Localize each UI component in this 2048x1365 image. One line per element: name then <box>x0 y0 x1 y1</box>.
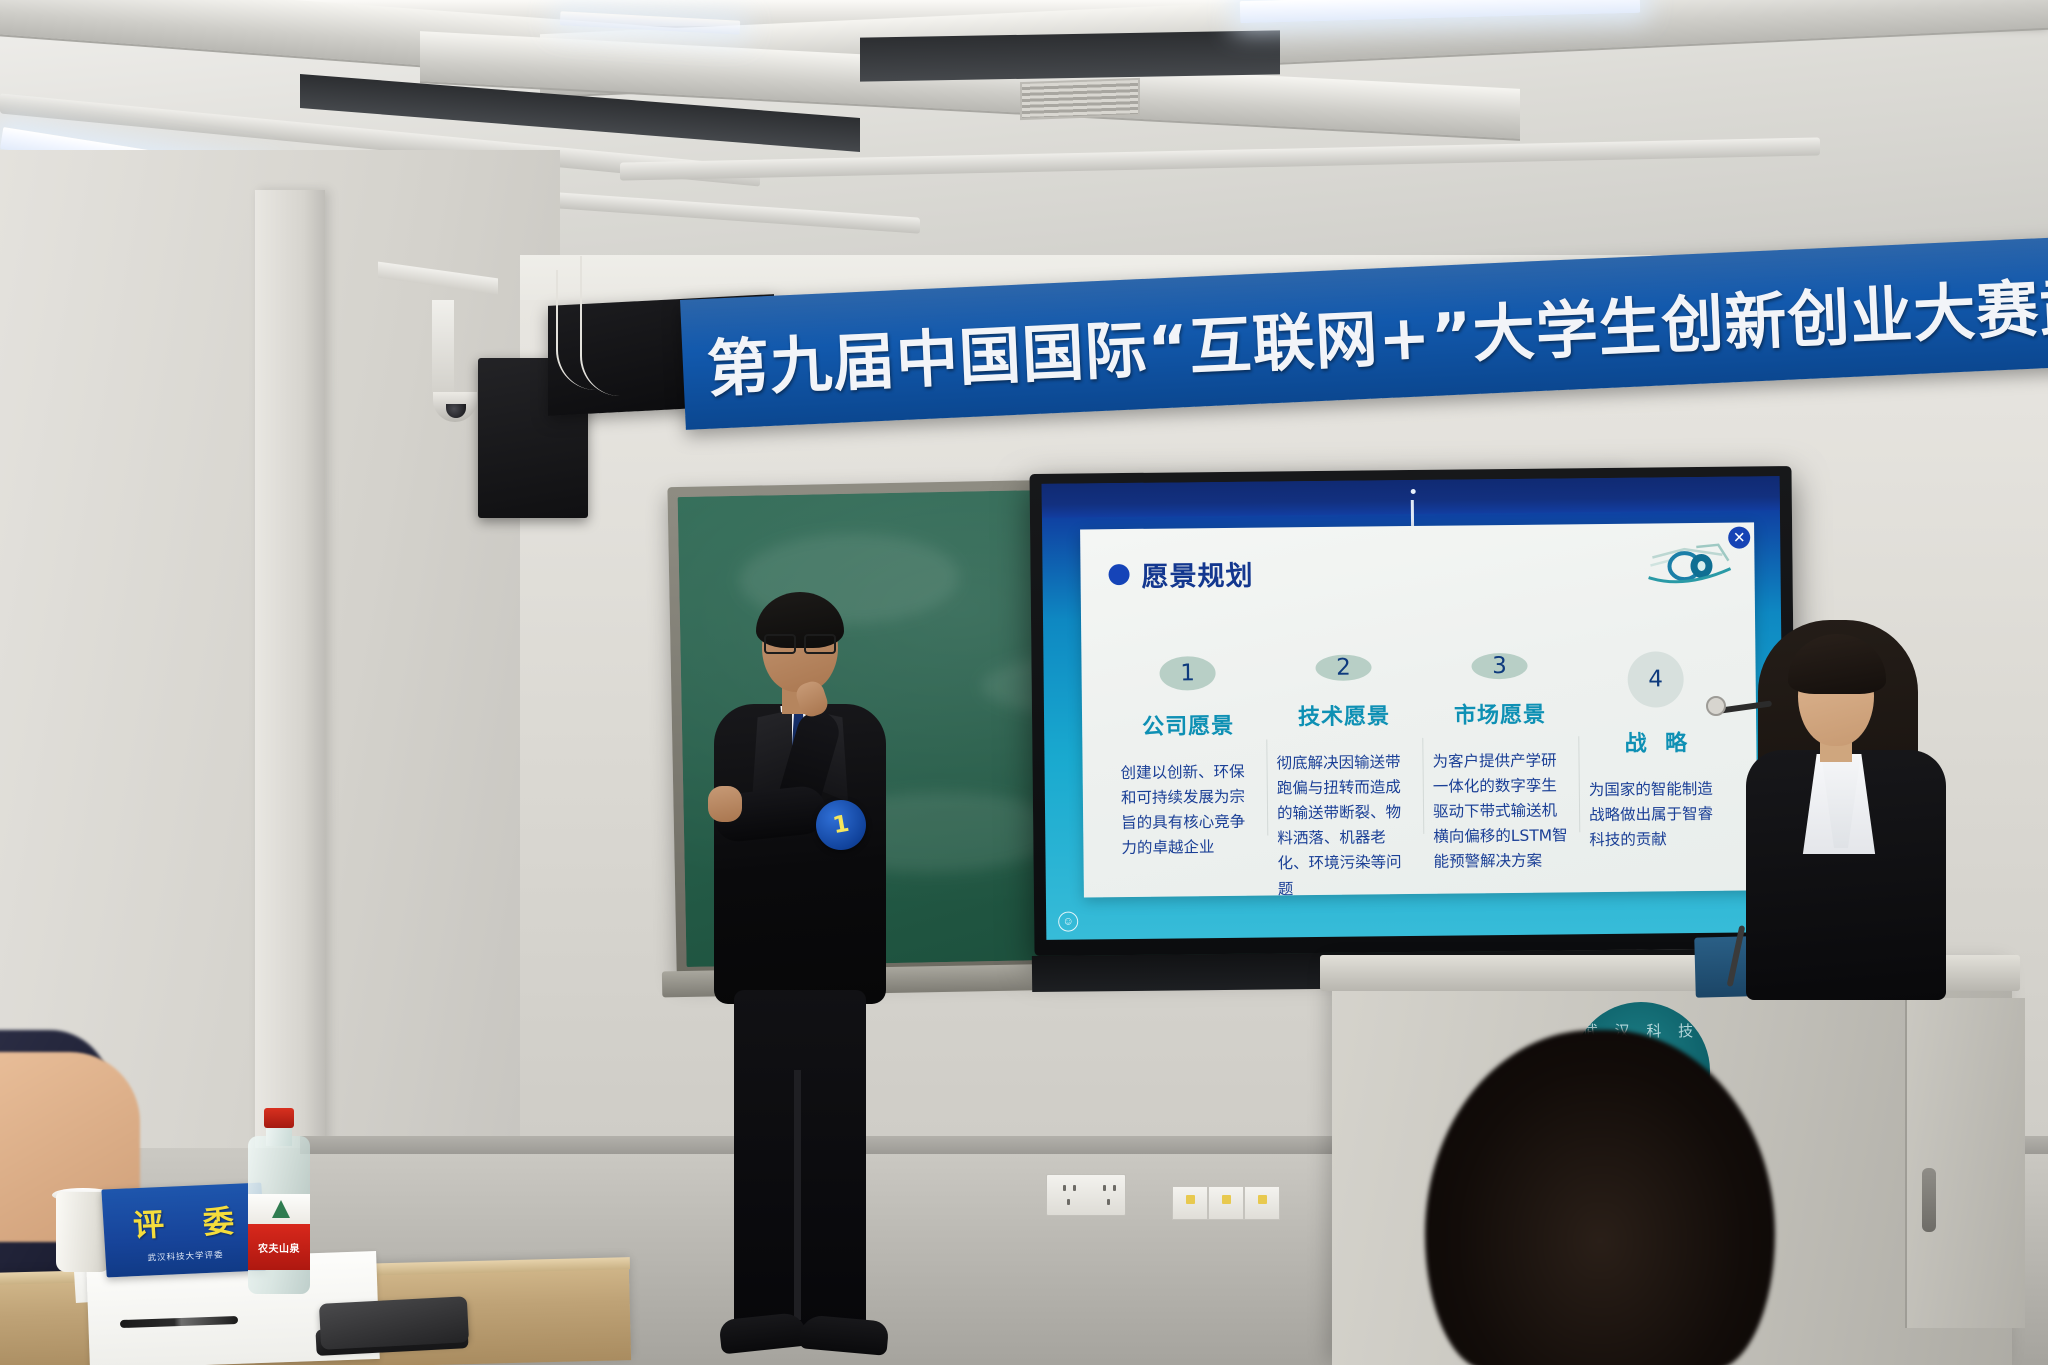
power-outlet-left <box>1046 1174 1126 1216</box>
ceiling-recess-2 <box>860 30 1280 81</box>
microphone-head-icon <box>1706 696 1726 716</box>
judge-placard-subtitle: 武汉科技大学评委 <box>147 1248 224 1263</box>
step-number-3: 3 <box>1471 653 1527 680</box>
presenter-shoe-right <box>799 1314 890 1356</box>
step-number-4: 4 <box>1627 651 1684 708</box>
presenter-leg-gap <box>794 1070 801 1320</box>
text-cursor-icon <box>1411 500 1414 528</box>
company-logo-icon <box>1644 539 1733 590</box>
bottle-cap <box>264 1108 294 1128</box>
structural-column <box>255 190 325 1170</box>
ceiling-vent <box>1020 78 1140 120</box>
vision-columns: 1 公司愿景 创建以创新、环保和可持续发展为宗旨的具有核心竞争力的卓越企业 2 … <box>1109 651 1735 862</box>
camera-mount-post <box>432 300 454 396</box>
column-body-3: 为客户提供产学研一体化的数字孪生驱动下带式输送机横向偏移的LSTM智能预警解决方… <box>1432 748 1569 875</box>
bullet-icon <box>1108 564 1129 585</box>
step-number-1: 1 <box>1159 656 1215 690</box>
bottle-label-lower: 农夫山泉 <box>248 1224 310 1270</box>
step-number-2: 2 <box>1315 654 1371 681</box>
presentation-slide[interactable]: 愿景规划 ✕ 1 <box>1080 522 1758 897</box>
mountain-logo-icon <box>272 1200 290 1218</box>
column-heading-4: 战 略 <box>1624 725 1688 758</box>
bottle-neck <box>266 1126 292 1146</box>
cable-run-2 <box>580 256 620 396</box>
presenter-shoe-left <box>718 1312 807 1355</box>
lectern-side-panel <box>1905 998 2025 1328</box>
light-switch-2[interactable] <box>1208 1186 1244 1220</box>
smartphone-upper[interactable] <box>319 1296 469 1350</box>
presenter-person: 1 <box>690 600 900 1365</box>
judge-placard-title: 评 委 <box>118 1195 249 1246</box>
slide-title-row: 愿景规划 <box>1108 554 1253 595</box>
cursor-dot-icon <box>1411 489 1416 494</box>
slide-title: 愿景规划 <box>1141 554 1253 594</box>
lectern-handle[interactable] <box>1922 1168 1936 1232</box>
column-heading-2: 技术愿景 <box>1298 698 1390 731</box>
vision-column-2: 2 技术愿景 彻底解决因输送带跑偏与扭转而造成的输送带断裂、物料洒落、机器老化、… <box>1265 654 1423 860</box>
water-bottle[interactable]: 农夫山泉 <box>248 1108 310 1294</box>
vision-column-1: 1 公司愿景 创建以创新、环保和可持续发展为宗旨的具有核心竞争力的卓越企业 <box>1109 656 1267 862</box>
light-switch-3[interactable] <box>1244 1186 1280 1220</box>
status-smiley-icon[interactable]: ☺ <box>1058 912 1078 932</box>
contestant-badge-number: 1 <box>831 811 851 839</box>
column-body-4: 为国家的智能制造战略做出属于智睿科技的贡献 <box>1589 777 1726 854</box>
display-screen[interactable]: 愿景规划 ✕ 1 <box>1042 476 1785 940</box>
close-icon[interactable]: ✕ <box>1728 526 1750 548</box>
interactive-display[interactable]: 愿景规划 ✕ 1 <box>1029 466 1796 956</box>
bottle-brand-text: 农夫山泉 <box>258 1240 300 1255</box>
column-heading-1: 公司愿景 <box>1142 707 1234 740</box>
light-switch-1[interactable] <box>1172 1186 1208 1220</box>
presenter-hand-left <box>708 786 742 822</box>
teammate-person <box>1740 620 1970 1000</box>
column-heading-3: 市场愿景 <box>1454 697 1546 730</box>
classroom-presentation-scene: 第九届中国国际“互联网+”大学生创新创业大赛武汉科技大学 愿景规划 <box>0 0 2048 1365</box>
eyeglasses-icon <box>764 634 836 650</box>
vision-column-3: 3 市场愿景 为客户提供产学研一体化的数字孪生驱动下带式输送机横向偏移的LSTM… <box>1421 652 1579 858</box>
column-body-2: 彻底解决因输送带跑偏与扭转而造成的输送带断裂、物料洒落、机器老化、环境污染等问题 <box>1276 750 1414 897</box>
vision-column-4: 4 战 略 为国家的智能制造战略做出属于智睿科技的贡献 <box>1577 651 1735 857</box>
column-body-1: 创建以创新、环保和可持续发展为宗旨的具有核心竞争力的卓越企业 <box>1121 759 1258 861</box>
judge-placard: 评 委 武汉科技大学评委 <box>101 1183 266 1278</box>
